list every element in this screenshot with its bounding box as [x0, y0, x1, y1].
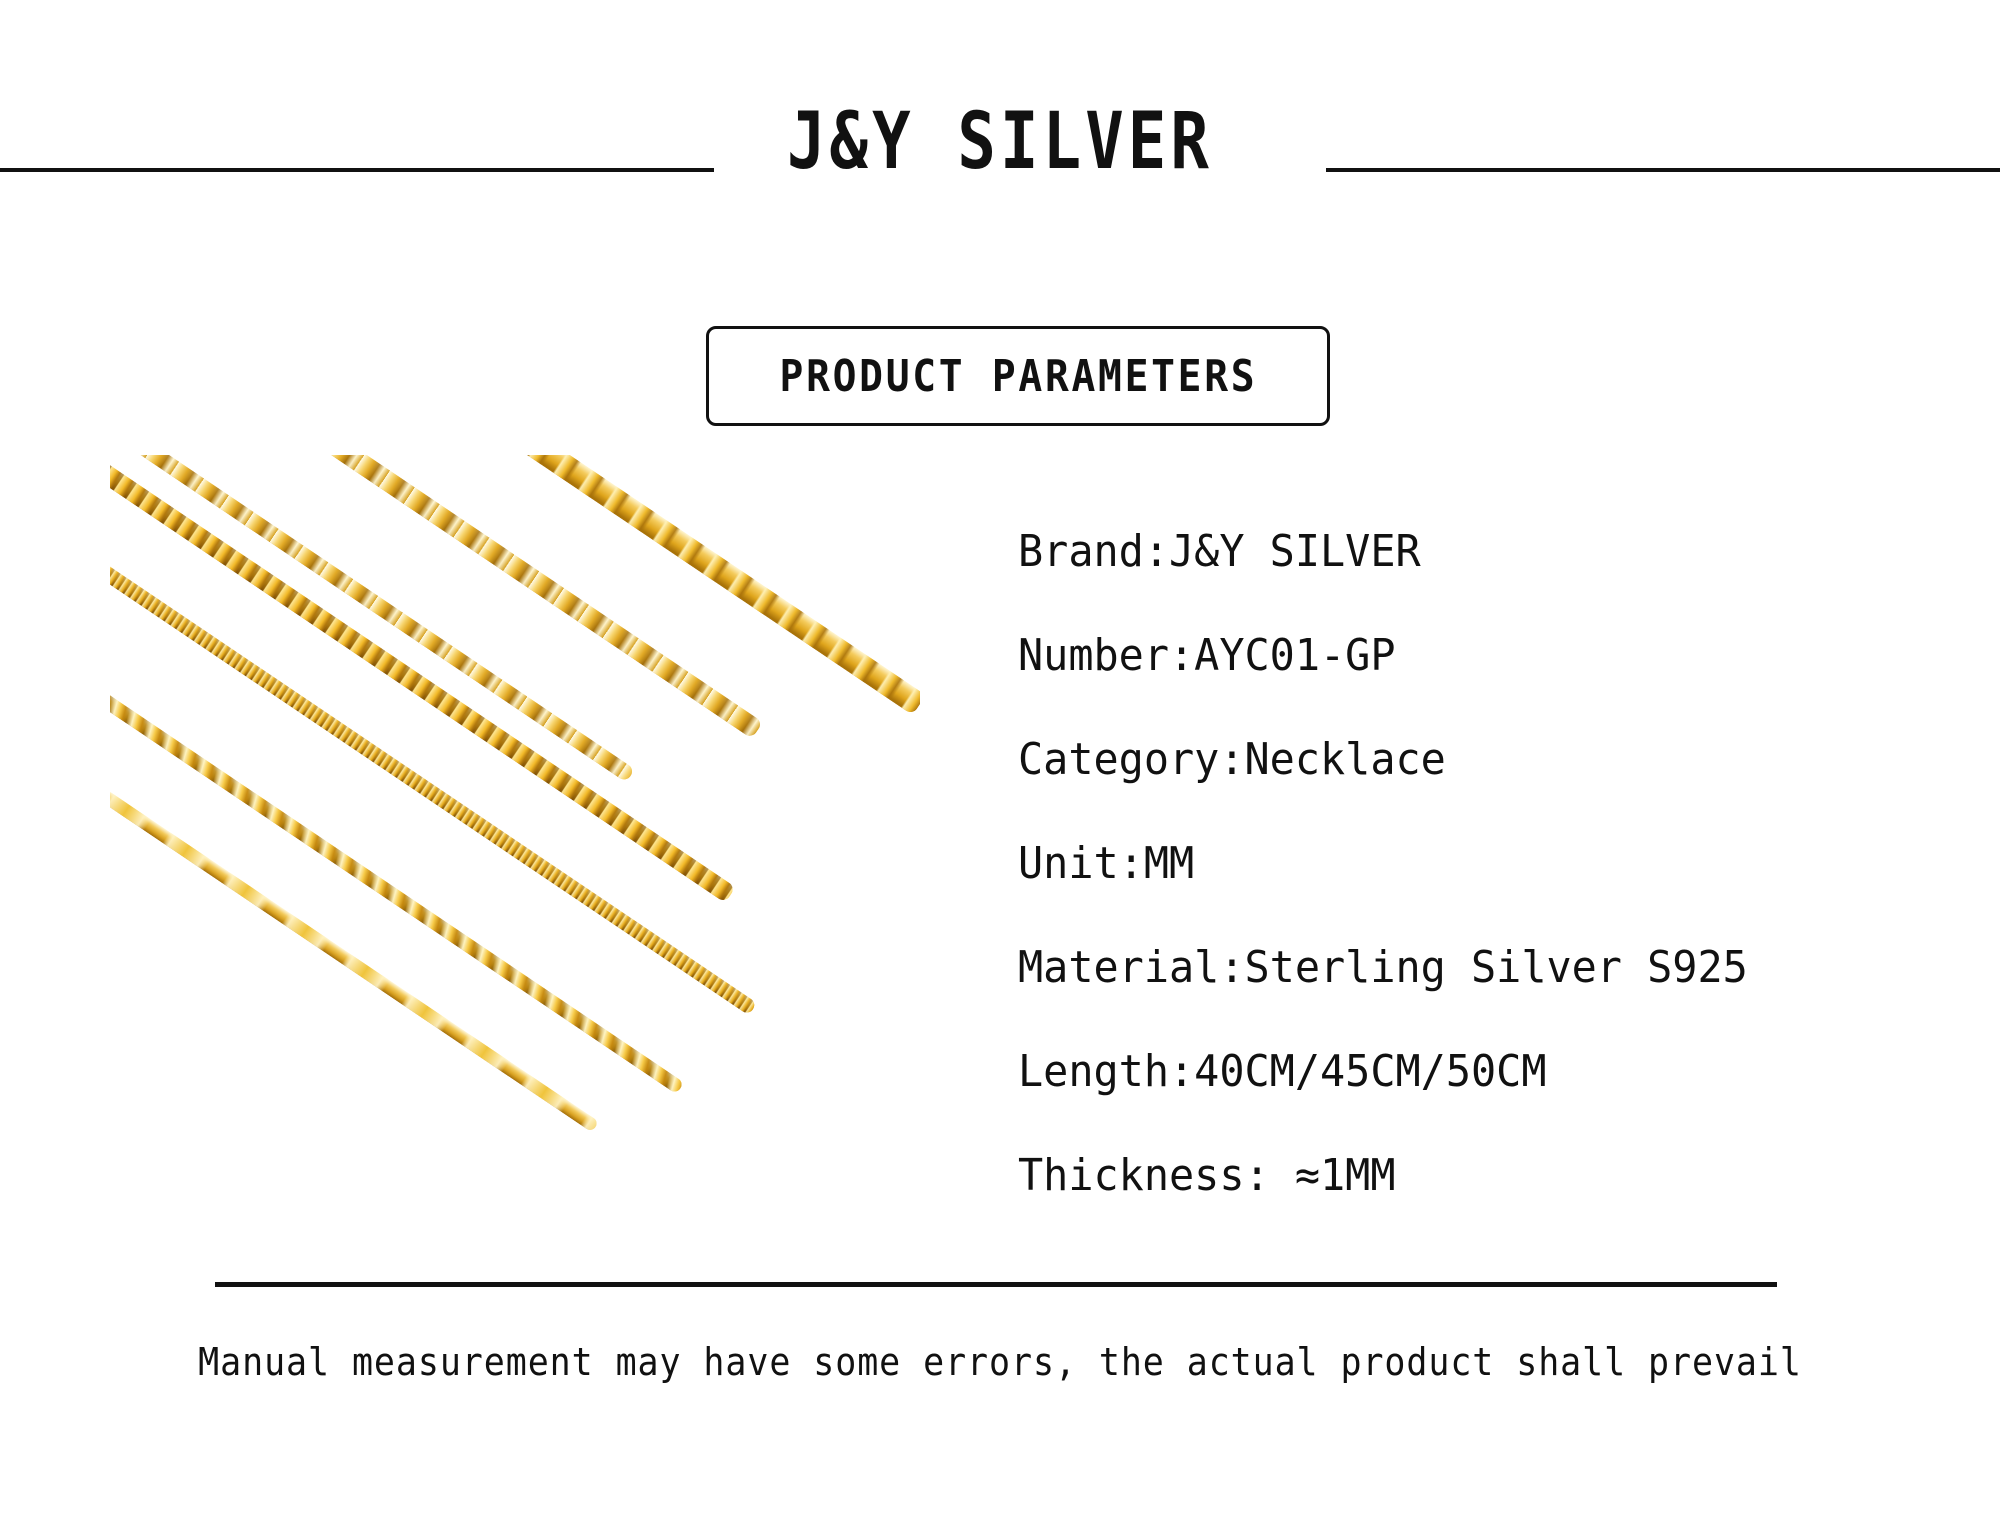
section-badge: PRODUCT PARAMETERS — [706, 326, 1330, 426]
param-number: Number:AYC01-GP — [1018, 604, 1748, 708]
param-thickness: Thickness: ≈1MM — [1018, 1124, 1748, 1228]
param-length: Length:40CM/45CM/50CM — [1018, 1020, 1748, 1124]
chain-texture — [110, 561, 757, 1015]
chain-bar-link-7 — [110, 786, 599, 1132]
section-badge-label: PRODUCT PARAMETERS — [779, 351, 1257, 402]
chain-snake-5 — [110, 561, 757, 1015]
param-material: Material:Sterling Silver S925 — [1018, 916, 1748, 1020]
brand-title: J&Y SILVER — [180, 95, 1820, 189]
parameter-list: Brand:J&Y SILVER Number:AYC01-GP Categor… — [1018, 500, 1786, 1228]
param-brand: Brand:J&Y SILVER — [1018, 500, 1748, 604]
param-category: Category:Necklace — [1018, 708, 1748, 812]
product-photo — [110, 455, 920, 1265]
product-parameters-page: J&Y SILVER PRODUCT PARAMETERS Brand:J&Y — [0, 0, 2000, 1514]
chain-texture — [110, 786, 599, 1132]
footer-divider — [215, 1282, 1777, 1287]
footer-disclaimer: Manual measurement may have some errors,… — [80, 1340, 1920, 1384]
param-unit: Unit:MM — [1018, 812, 1748, 916]
